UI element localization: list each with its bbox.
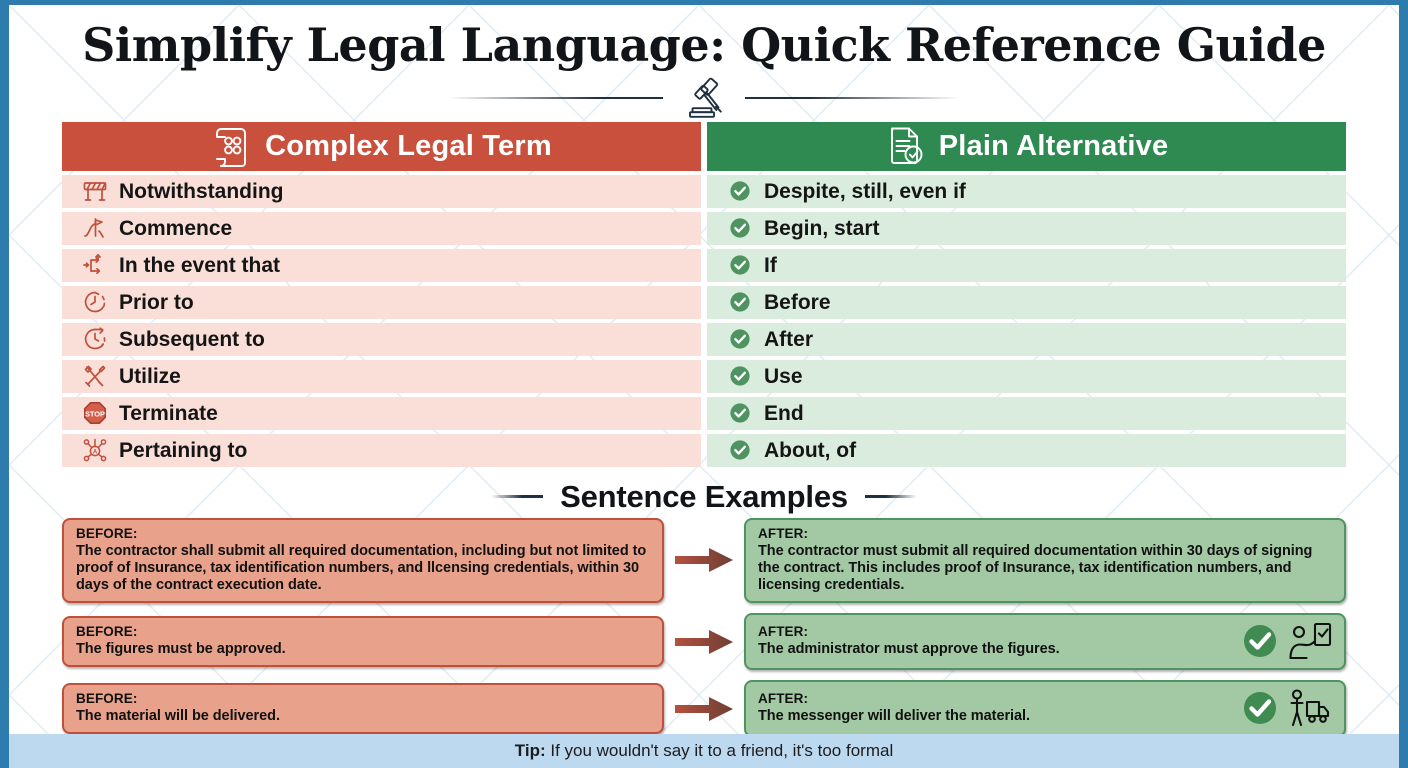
infographic-page: Simplify Legal Language: Quick Reference… <box>0 0 1408 768</box>
table-row[interactable]: Notwithstanding <box>62 175 701 208</box>
plain-label: Use <box>764 366 803 387</box>
flag-hill-icon <box>82 215 108 241</box>
plain-label: End <box>764 403 804 424</box>
check-circle-icon <box>727 437 753 463</box>
example-row: BEFORE: The figures must be approved. <box>62 613 1346 670</box>
divider-line-right <box>745 97 960 99</box>
after-text: The contractor must submit all required … <box>758 543 1332 594</box>
plain-label: If <box>764 255 777 276</box>
plain-label: Begin, start <box>764 218 880 239</box>
table-row[interactable]: Subsequent to <box>62 323 701 356</box>
table-row[interactable]: End <box>707 397 1346 430</box>
title-divider <box>9 76 1399 120</box>
plain-alternatives-column: Plain Alternative Despite, still, even i… <box>707 122 1346 467</box>
complex-term-header-label: Complex Legal Term <box>265 130 552 163</box>
section-dash-right <box>865 495 917 498</box>
after-text-wrap: AFTER: The messenger will deliver the ma… <box>758 691 1230 725</box>
after-icon-group <box>1230 688 1332 728</box>
table-row[interactable]: After <box>707 323 1346 356</box>
term-label: Terminate <box>119 403 218 424</box>
before-text: The material will be delivered. <box>76 708 650 725</box>
term-label: In the event that <box>119 255 280 276</box>
table-row[interactable]: About, of <box>707 434 1346 467</box>
footer-tip-label: Tip: <box>515 741 546 760</box>
branch-arrow-icon <box>82 252 108 278</box>
tools-icon <box>82 363 108 389</box>
comparison-table: Complex Legal Term Notwithstanding <box>9 122 1399 467</box>
arrow-cell <box>664 627 744 657</box>
table-row[interactable]: Commence <box>62 212 701 245</box>
plain-label: About, of <box>764 440 856 461</box>
after-text: The administrator must approve the figur… <box>758 641 1230 658</box>
person-approve-document-icon <box>1288 621 1332 661</box>
term-label: Prior to <box>119 292 194 313</box>
check-circle-icon <box>727 289 753 315</box>
after-text-wrap: AFTER: The contractor must submit all re… <box>758 526 1332 594</box>
term-label: Subsequent to <box>119 329 265 350</box>
table-row[interactable]: Utilize <box>62 360 701 393</box>
barrier-icon <box>82 178 108 204</box>
sentence-examples-list: BEFORE: The contractor shall submit all … <box>9 518 1399 737</box>
table-row[interactable]: Despite, still, even if <box>707 175 1346 208</box>
gavel-icon <box>677 76 731 120</box>
footer-tip-text: Tip: If you wouldn't say it to a friend,… <box>515 741 893 761</box>
complex-term-header: Complex Legal Term <box>62 122 701 171</box>
check-circle-icon <box>727 252 753 278</box>
check-circle-icon <box>727 215 753 241</box>
arrow-cell <box>664 694 744 724</box>
stop-sign-icon: STOP <box>82 400 108 426</box>
after-tag: AFTER: <box>758 624 1230 641</box>
clock-forward-icon <box>82 326 108 352</box>
before-text: The figures must be approved. <box>76 641 650 658</box>
table-row[interactable]: In the event that <box>62 249 701 282</box>
after-box: AFTER: The messenger will deliver the ma… <box>744 680 1346 737</box>
before-tag: BEFORE: <box>76 624 650 641</box>
plain-alternative-header: Plain Alternative <box>707 122 1346 171</box>
plain-label: After <box>764 329 813 350</box>
document-check-icon <box>885 125 925 167</box>
term-label: Utilize <box>119 366 181 387</box>
complex-terms-column: Complex Legal Term Notwithstanding <box>62 122 701 467</box>
right-arrow-icon <box>673 694 735 724</box>
check-circle-icon <box>727 363 753 389</box>
after-icon-group <box>1230 621 1332 661</box>
before-box: BEFORE: The figures must be approved. <box>62 616 664 667</box>
table-row[interactable]: Begin, start <box>707 212 1346 245</box>
section-dash-left <box>491 495 543 498</box>
footer-tip-bar: Tip: If you wouldn't say it to a friend,… <box>9 734 1399 768</box>
check-badge-icon <box>1240 621 1280 661</box>
table-row[interactable]: A Pertaining to <box>62 434 701 467</box>
table-row[interactable]: Use <box>707 360 1346 393</box>
term-label: Commence <box>119 218 232 239</box>
after-tag: AFTER: <box>758 691 1230 708</box>
clock-back-icon <box>82 289 108 315</box>
after-text: The messenger will deliver the material. <box>758 708 1230 725</box>
after-tag: AFTER: <box>758 526 1332 543</box>
before-box: BEFORE: The material will be delivered. <box>62 683 664 734</box>
divider-line-left <box>448 97 663 99</box>
sentence-examples-header: Sentence Examples <box>9 476 1399 518</box>
term-label: Pertaining to <box>119 440 247 461</box>
example-row: BEFORE: The contractor shall submit all … <box>62 518 1346 603</box>
table-row[interactable]: Before <box>707 286 1346 319</box>
check-circle-icon <box>727 400 753 426</box>
page-content: Simplify Legal Language: Quick Reference… <box>9 5 1399 737</box>
after-box: AFTER: The contractor must submit all re… <box>744 518 1346 603</box>
term-label: Notwithstanding <box>119 181 283 202</box>
check-circle-icon <box>727 326 753 352</box>
plain-label: Despite, still, even if <box>764 181 966 202</box>
before-tag: BEFORE: <box>76 526 650 543</box>
after-box: AFTER: The administrator must approve th… <box>744 613 1346 670</box>
check-badge-icon <box>1240 688 1280 728</box>
table-row[interactable]: STOP Terminate <box>62 397 701 430</box>
page-title: Simplify Legal Language: Quick Reference… <box>9 5 1399 72</box>
person-delivery-truck-icon <box>1288 688 1332 728</box>
right-arrow-icon <box>673 545 735 575</box>
section-title: Sentence Examples <box>560 479 848 515</box>
plain-alternative-header-label: Plain Alternative <box>939 130 1169 163</box>
check-circle-icon <box>727 178 753 204</box>
plain-label: Before <box>764 292 831 313</box>
svg-text:STOP: STOP <box>85 410 105 419</box>
after-text-wrap: AFTER: The administrator must approve th… <box>758 624 1230 658</box>
arrow-cell <box>664 545 744 575</box>
network-node-icon: A <box>82 437 108 463</box>
table-row[interactable]: Prior to <box>62 286 701 319</box>
before-box: BEFORE: The contractor shall submit all … <box>62 518 664 603</box>
before-tag: BEFORE: <box>76 691 650 708</box>
footer-tip-body: If you wouldn't say it to a friend, it's… <box>546 741 894 760</box>
example-row: BEFORE: The material will be delivered. <box>62 680 1346 737</box>
table-row[interactable]: If <box>707 249 1346 282</box>
svg-text:A: A <box>93 450 98 456</box>
before-text: The contractor shall submit all required… <box>76 543 650 594</box>
right-arrow-icon <box>673 627 735 657</box>
scroll-contract-icon <box>211 125 251 167</box>
